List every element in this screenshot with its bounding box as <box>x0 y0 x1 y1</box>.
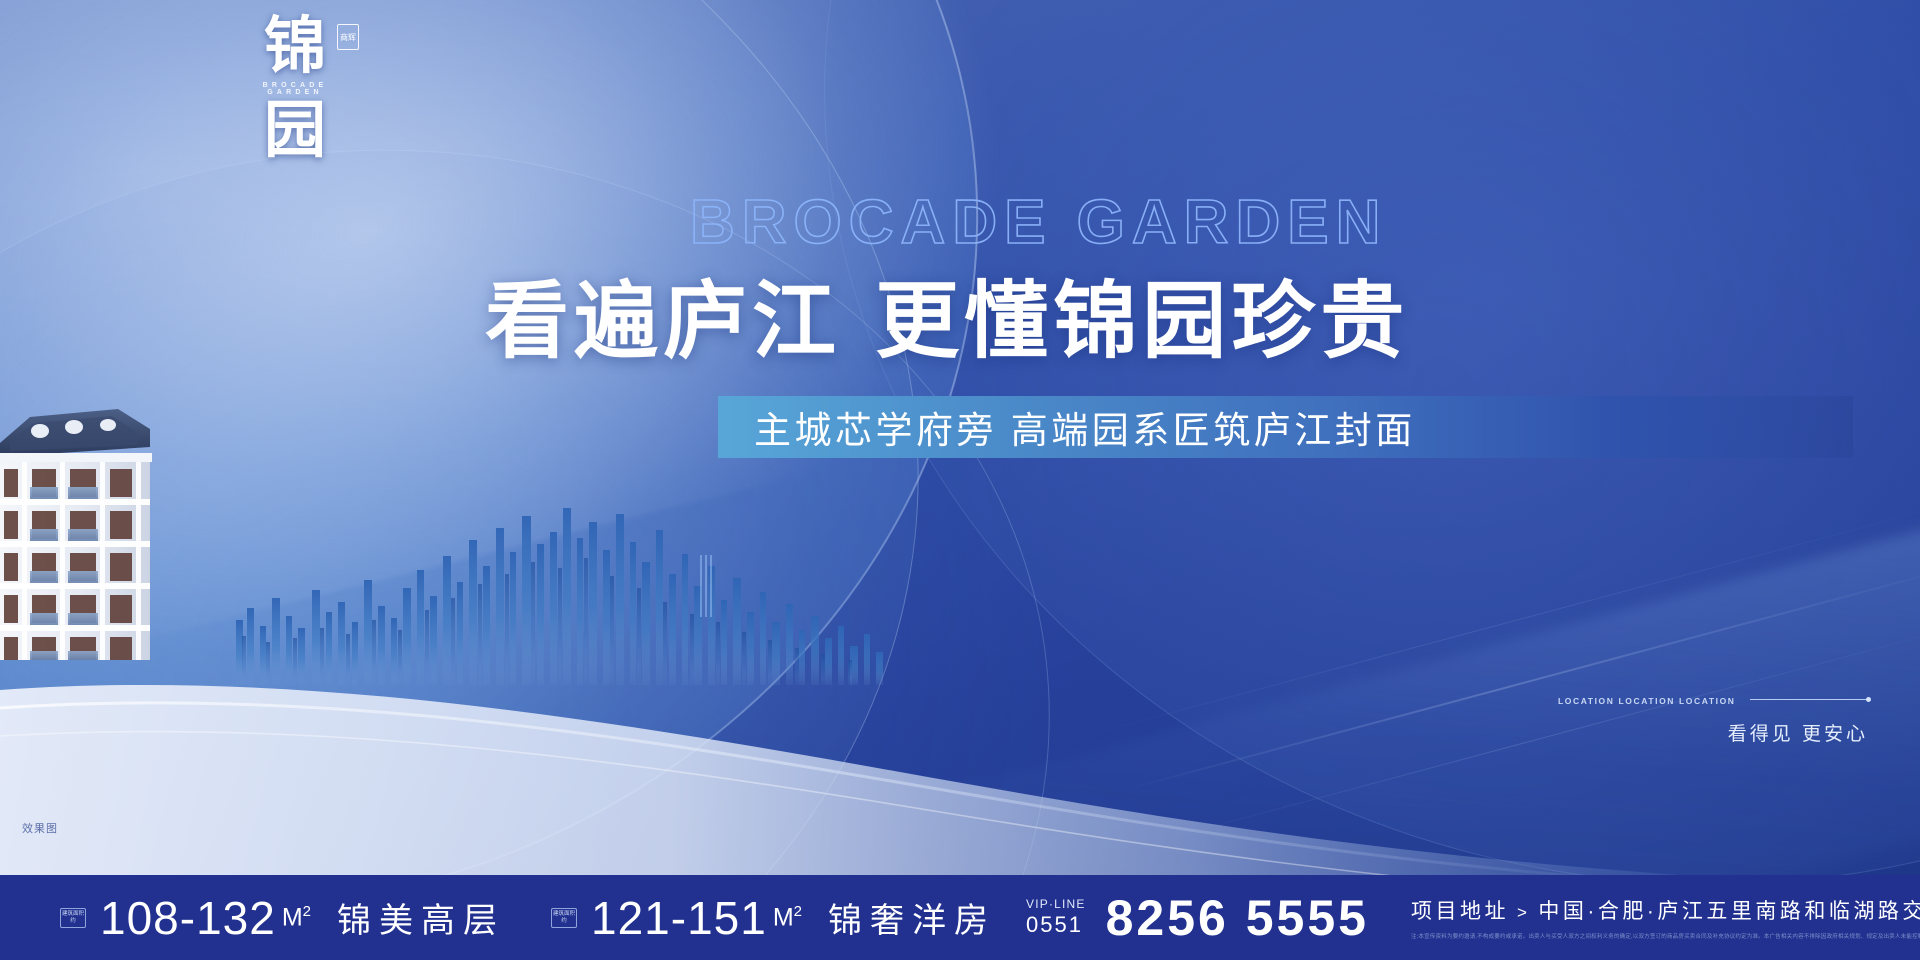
headline-block: BROCADE GARDEN 看遍庐江 更懂锦园珍贵 主城芯学府旁 高端园系匠筑… <box>690 188 1880 458</box>
chevron-right-icon: > <box>1517 903 1530 922</box>
location-rule-line <box>1750 699 1868 700</box>
headline-chinese: 看遍庐江 更懂锦园珍贵 <box>485 272 1880 370</box>
location-english: LOCATION LOCATION LOCATION <box>1558 696 1736 706</box>
poster-canvas: 锦 BROCADE GARDEN 园 商辉 BROCADE GARDEN 看遍庐… <box>0 0 1920 960</box>
logo-english-name: BROCADE GARDEN <box>235 82 355 96</box>
subtitle-text: 主城芯学府旁 高端园系匠筑庐江封面 <box>718 400 1416 454</box>
product-area-unit: M2 <box>282 903 311 932</box>
vip-city-code: 0551 <box>1026 912 1086 938</box>
address-line: 项目地址>中国·合肥·庐江五里南路和临湖路交口 <box>1411 895 1920 925</box>
unit-letter: M <box>282 903 303 931</box>
location-en-row: LOCATION LOCATION LOCATION <box>1558 692 1868 710</box>
seal-stamp-icon: 商辉 <box>337 24 359 50</box>
product-area-value: 121-151 <box>591 891 767 945</box>
location-chinese: 看得见 更安心 <box>1558 719 1868 746</box>
address-label: 项目地址 <box>1411 900 1509 923</box>
address-value: 中国·合肥·庐江五里南路和临湖路交口 <box>1538 900 1920 923</box>
product-name: 锦美高层 <box>337 893 505 942</box>
legal-disclaimer: 注:本宣传资料为要约邀请,不构成要约或承诺。出卖人与买受人双方之间权利义务的确定… <box>1411 932 1920 940</box>
subtitle-banner: 主城芯学府旁 高端园系匠筑庐江封面 <box>718 396 1853 458</box>
area-badge: 建筑面积约 <box>60 908 86 928</box>
vip-line-block: VIP·LINE 0551 <box>1026 897 1086 938</box>
area-badge: 建筑面积约 <box>551 908 577 928</box>
headline-english: BROCADE GARDEN <box>690 188 1880 258</box>
render-caption: 效果图 <box>22 820 58 836</box>
phone-number[interactable]: 8256 5555 <box>1106 889 1369 947</box>
unit-superscript: 2 <box>303 903 311 920</box>
unit-superscript: 2 <box>794 903 802 920</box>
banner-tick-marks <box>700 555 716 617</box>
light-streak <box>1120 562 1920 792</box>
location-tagline-block: LOCATION LOCATION LOCATION 看得见 更安心 <box>1558 692 1868 746</box>
address-block: 项目地址>中国·合肥·庐江五里南路和临湖路交口 注:本宣传资料为要约邀请,不构成… <box>1411 895 1920 940</box>
product-area-value: 108-132 <box>100 891 276 945</box>
unit-letter: M <box>773 903 794 931</box>
villa-building-illustration <box>0 395 240 660</box>
logo-char-bottom: 园 <box>235 98 355 162</box>
brand-logo: 锦 BROCADE GARDEN 园 商辉 <box>235 14 355 164</box>
city-skyline-illustration <box>200 470 980 685</box>
product-area-unit: M2 <box>773 903 802 932</box>
bottom-info-bar: 建筑面积约 108-132 M2 锦美高层 建筑面积约 121-151 M2 锦… <box>0 875 1920 960</box>
vip-line-label: VIP·LINE <box>1026 897 1086 911</box>
product-name: 锦奢洋房 <box>828 893 996 942</box>
